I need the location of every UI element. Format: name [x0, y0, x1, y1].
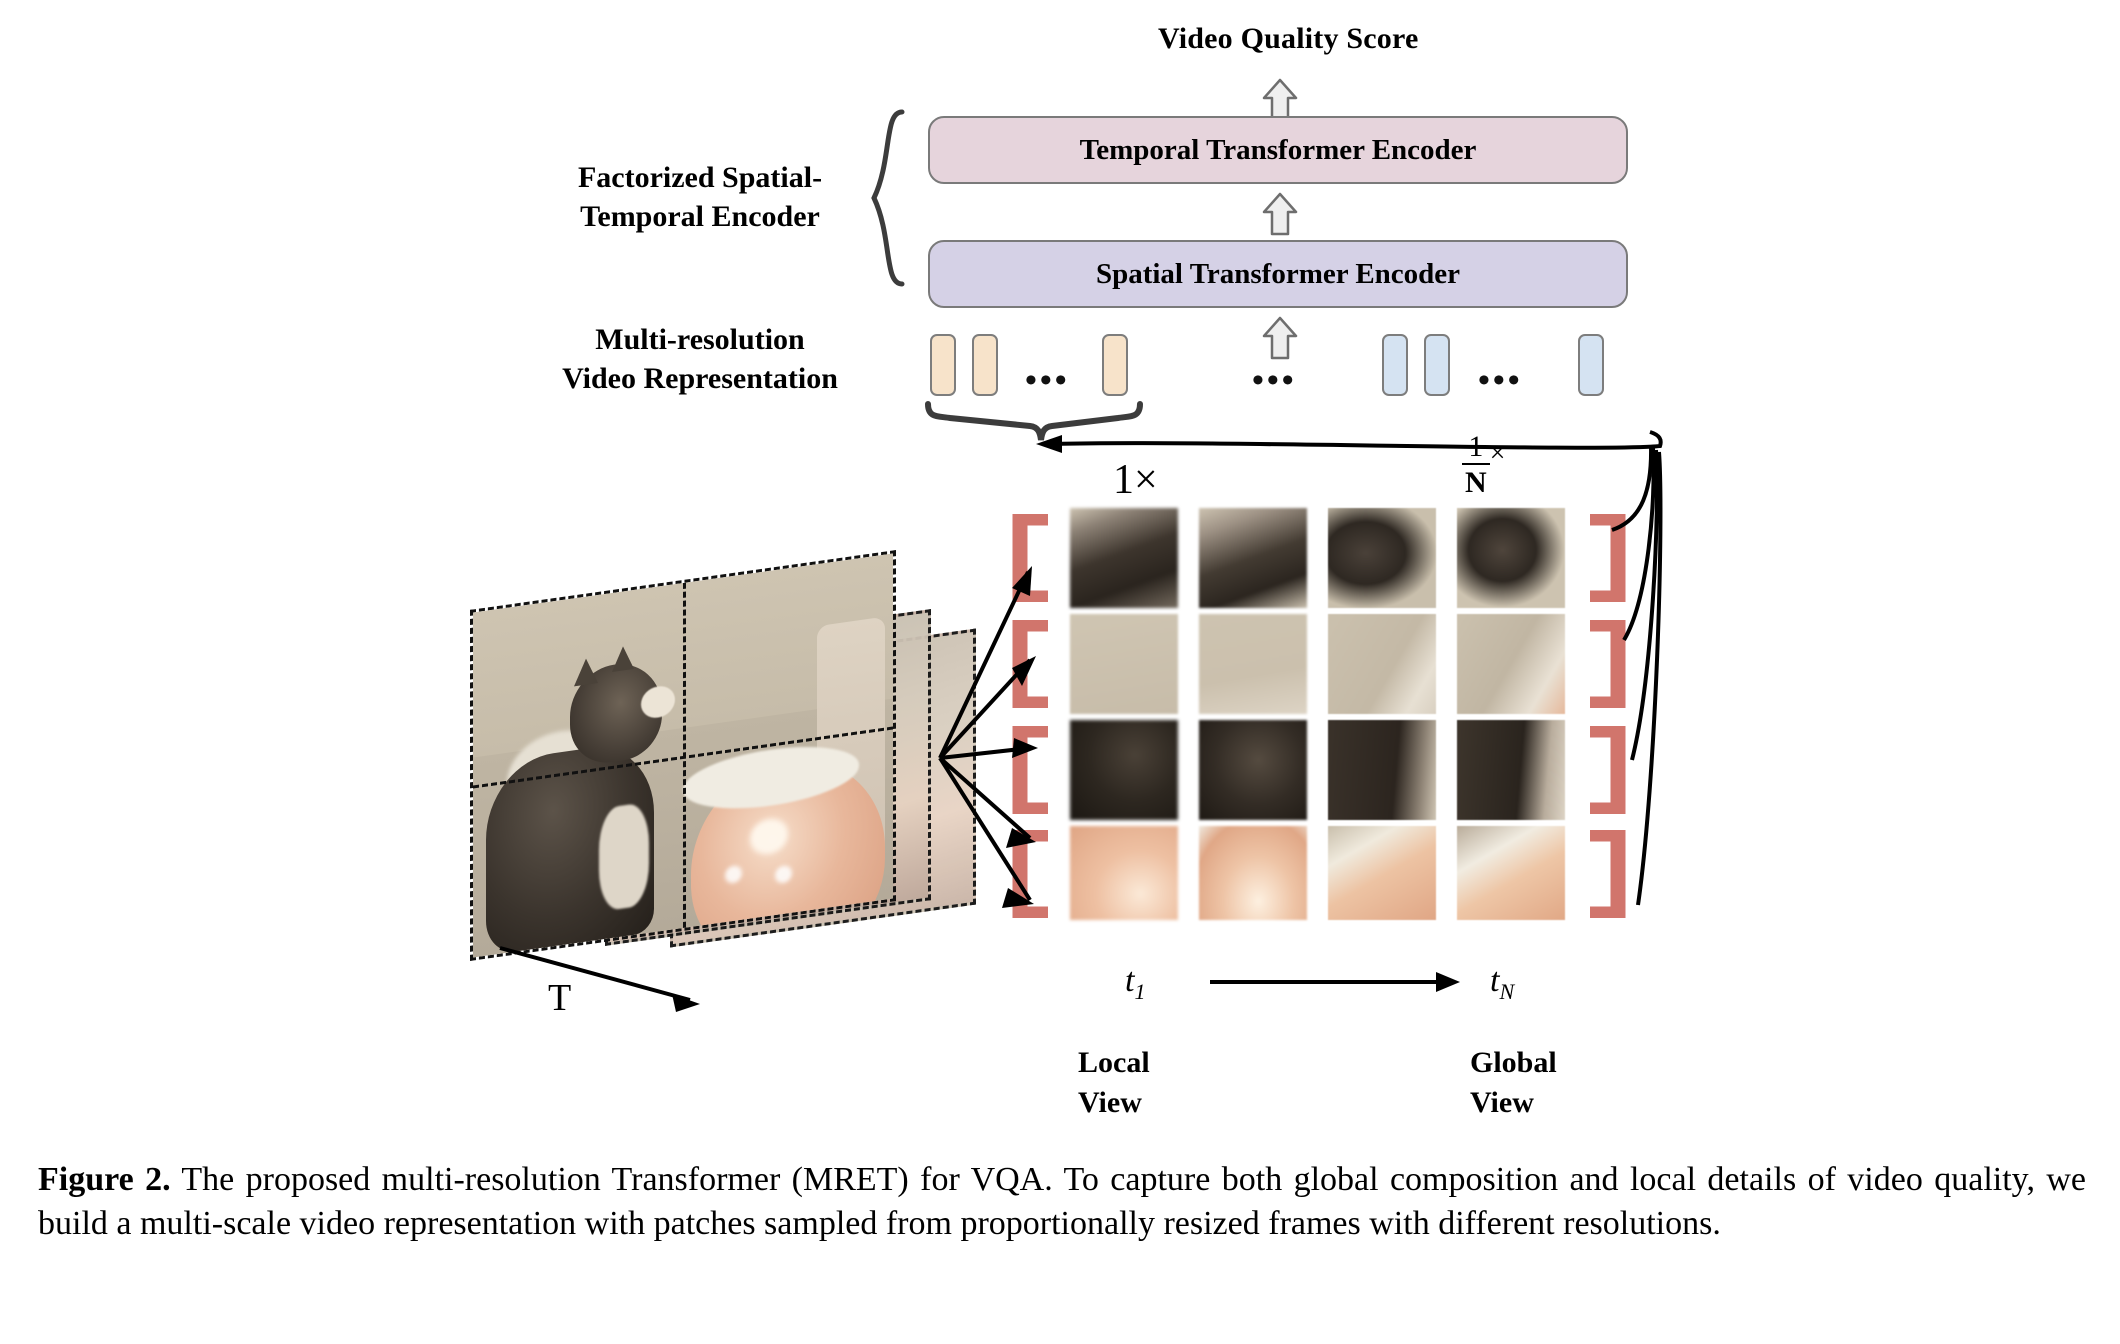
spatial-encoder-label: Spatial Transformer Encoder	[1096, 258, 1460, 291]
representation-label-line-1: Multi-resolution	[520, 320, 880, 359]
bracket-2-curve	[1624, 448, 1654, 640]
caption-text: The proposed multi-resolution Transforme…	[38, 1161, 2086, 1242]
patch-r4-c4[interactable]	[1457, 826, 1565, 920]
time-end-sub: N	[1499, 979, 1514, 1004]
arrow-spatial-to-temporal-icon	[1262, 192, 1298, 236]
left-bracket-row-3	[1012, 726, 1052, 814]
grid-to-tokens-arrowhead	[1036, 435, 1062, 453]
local-tokens-ellipsis: •••	[1025, 372, 1070, 389]
bracket-3-curve	[1632, 450, 1657, 760]
left-bracket-row-1	[1012, 514, 1052, 602]
right-bracket-row-4	[1586, 830, 1626, 918]
patch-r1-c2[interactable]	[1199, 508, 1307, 608]
local-token-2[interactable]	[972, 334, 998, 396]
timeline-arrowhead	[672, 994, 700, 1012]
patch-r1-c3[interactable]	[1328, 508, 1436, 608]
patch-r3-c3[interactable]	[1328, 720, 1436, 820]
local-view-label: Local View	[1078, 1043, 1150, 1122]
patch-r2-c2[interactable]	[1199, 614, 1307, 714]
local-view-line-1: Local	[1078, 1043, 1150, 1083]
local-tokens-brace	[928, 404, 1140, 440]
right-bracket-row-3	[1586, 726, 1626, 814]
patch-r1-c1[interactable]	[1070, 508, 1178, 608]
arrow-tokens-to-spatial-icon	[1262, 316, 1298, 360]
patch-r2-c3[interactable]	[1328, 614, 1436, 714]
local-token-1[interactable]	[930, 334, 956, 396]
global-token-n[interactable]	[1578, 334, 1604, 396]
local-token-n[interactable]	[1102, 334, 1128, 396]
timeline-label: T	[548, 976, 571, 1020]
video-frame-stack	[470, 580, 990, 980]
video-quality-score-label: Video Quality Score	[1158, 22, 1418, 56]
caption-prefix: Figure 2.	[38, 1161, 171, 1198]
time-axis-arrowhead	[1436, 972, 1460, 992]
figure-panel: Video Quality Score Factorized Spatial- …	[0, 0, 2120, 1150]
left-bracket-row-4	[1012, 830, 1052, 918]
patch-r4-c1[interactable]	[1070, 826, 1178, 920]
multi-scale-patch-grid	[1070, 508, 1570, 920]
right-bracket-row-2	[1586, 620, 1626, 708]
patch-r4-c3[interactable]	[1328, 826, 1436, 920]
global-scale-times: ×	[1490, 438, 1506, 469]
temporal-transformer-encoder-block[interactable]: Temporal Transformer Encoder	[928, 116, 1628, 184]
global-tokens-ellipsis: •••	[1478, 372, 1523, 389]
grid-to-tokens-connector	[1055, 432, 1661, 448]
factorized-encoder-label-line-1: Factorized Spatial-	[535, 158, 865, 197]
local-scale-label: 1×	[1113, 456, 1158, 504]
global-view-line-1: Global	[1470, 1043, 1557, 1083]
spatial-transformer-encoder-block[interactable]: Spatial Transformer Encoder	[928, 240, 1628, 308]
time-end-label: tN	[1490, 962, 1514, 1005]
global-scale-label: 1 N ×	[1462, 432, 1505, 499]
factorized-encoder-label-line-2: Temporal Encoder	[535, 197, 865, 236]
time-start-sub: 1	[1134, 979, 1145, 1004]
right-bracket-row-1	[1586, 514, 1626, 602]
global-token-2[interactable]	[1424, 334, 1450, 396]
tokens-middle-ellipsis: •••	[1252, 372, 1297, 389]
local-view-line-2: View	[1078, 1083, 1150, 1123]
patch-r1-c4[interactable]	[1457, 508, 1565, 608]
patch-r2-c1[interactable]	[1070, 614, 1178, 714]
representation-label-line-2: Video Representation	[520, 359, 880, 398]
temporal-encoder-label: Temporal Transformer Encoder	[1080, 134, 1477, 167]
bracket-4-curve	[1638, 452, 1660, 905]
time-start-label: t1	[1125, 962, 1145, 1005]
encoder-group-brace	[874, 112, 902, 284]
global-view-line-2: View	[1470, 1083, 1557, 1123]
figure-caption: Figure 2. The proposed multi-resolution …	[38, 1158, 2086, 1246]
patch-r3-c2[interactable]	[1199, 720, 1307, 820]
patch-r3-c4[interactable]	[1457, 720, 1565, 820]
global-view-label: Global View	[1470, 1043, 1557, 1122]
left-bracket-row-2	[1012, 620, 1052, 708]
multi-resolution-representation-label: Multi-resolution Video Representation	[520, 320, 880, 398]
global-scale-numerator: 1	[1462, 432, 1490, 464]
patch-r2-c4[interactable]	[1457, 614, 1565, 714]
patch-r3-c1[interactable]	[1070, 720, 1178, 820]
global-token-1[interactable]	[1382, 334, 1408, 396]
factorized-encoder-group-label: Factorized Spatial- Temporal Encoder	[535, 158, 865, 236]
global-scale-denominator: N	[1462, 464, 1490, 499]
patch-r4-c2[interactable]	[1199, 826, 1307, 920]
video-frame-front	[470, 550, 896, 961]
